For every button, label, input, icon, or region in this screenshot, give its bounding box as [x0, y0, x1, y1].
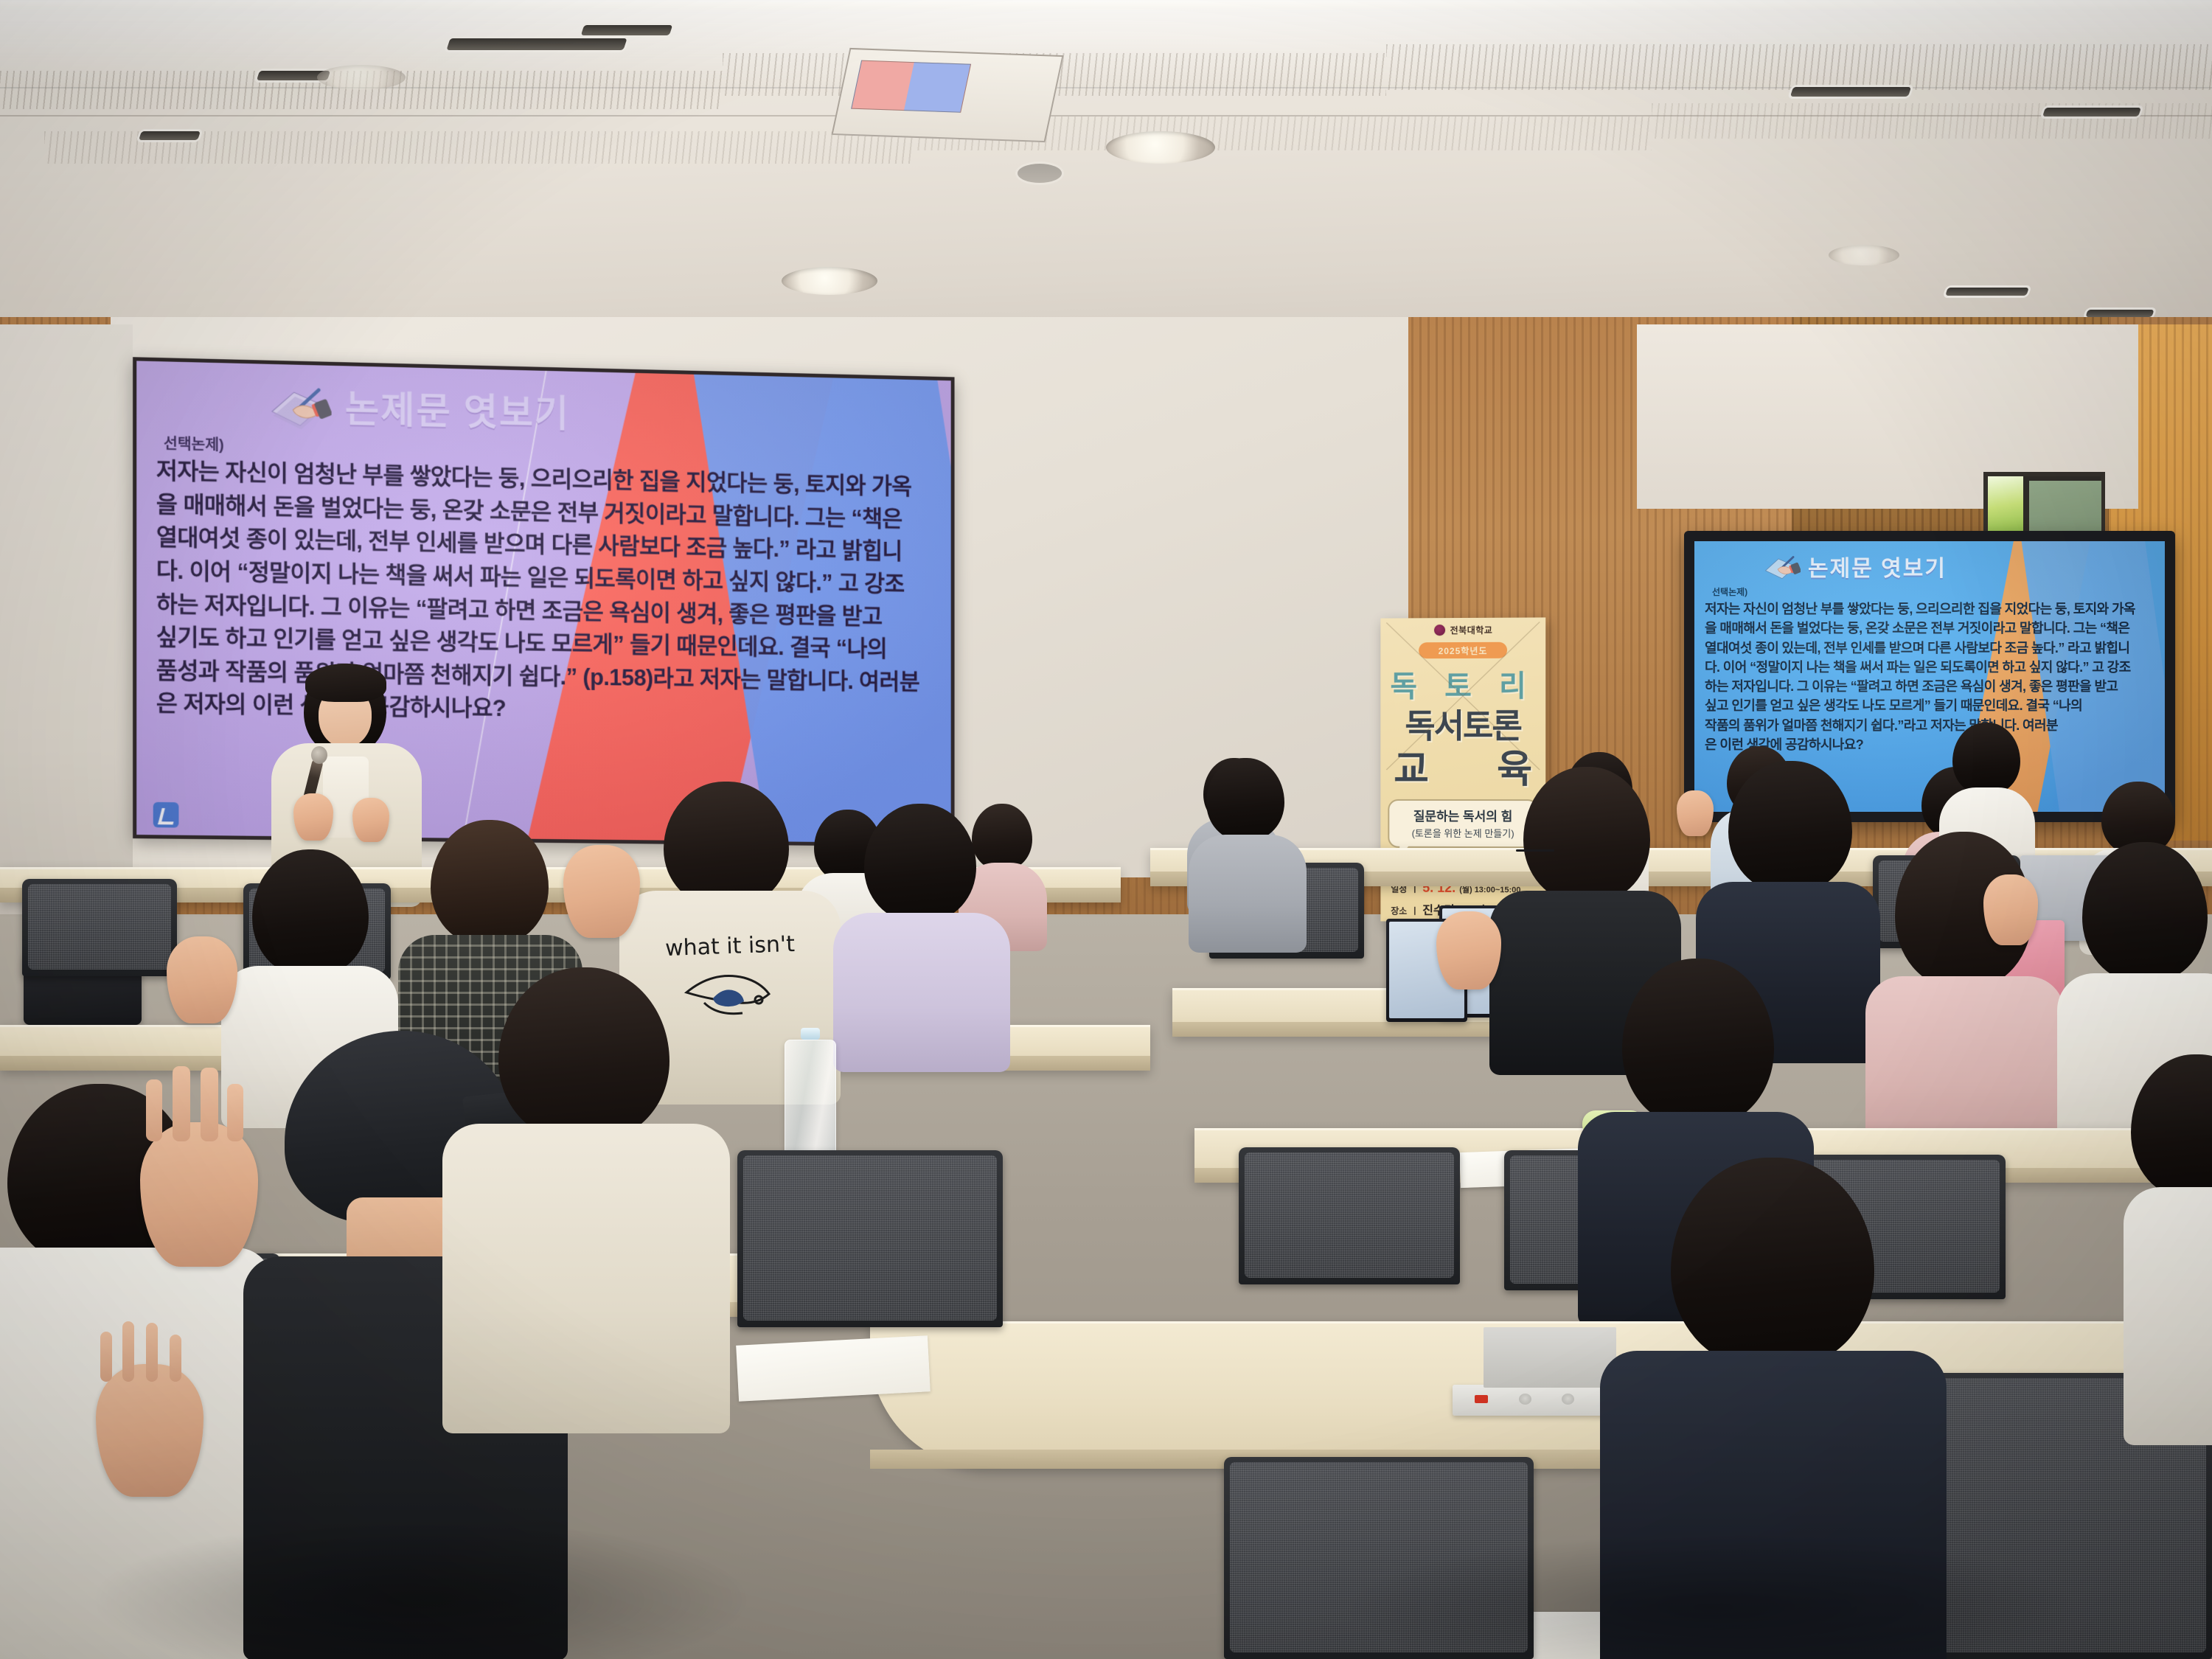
ceiling-vent	[2042, 108, 2141, 116]
chair	[1239, 1147, 1460, 1284]
monitor-slide-line: 을 매매해서 돈을 벌었다는 둥, 온갖 소문은 전부 거짓이라고 말합니다. …	[1705, 619, 2154, 638]
monitor-slide-line: 저자는 자신이 엄청난 부를 쌓았다는 둥, 으리으리한 집을 지었다는 둥, …	[1705, 599, 2154, 619]
audience-member-foreground	[442, 967, 730, 1425]
speaker-hair-front	[305, 664, 386, 702]
ceiling-downlight	[1106, 131, 1215, 164]
monitor-slide-line: 작품의 품위가 얼마쯤 천해지기 쉽다.”라고 저자는 말합니다. 여러분	[1705, 716, 2154, 735]
monitor-slide-line: 열대여섯 종이 있는데, 전부 인세를 받으며 다른 사람보다 조금 높다.” …	[1705, 639, 2154, 658]
head	[1671, 1158, 1874, 1368]
ceiling	[0, 0, 2212, 347]
audience-member-foreground	[1600, 1158, 1947, 1659]
audience-member	[1865, 832, 2065, 1141]
hand-writing-pencil-icon	[269, 380, 332, 430]
head	[252, 849, 369, 976]
head	[1728, 761, 1852, 892]
ceiling-vent	[1790, 87, 1911, 97]
water-bottle-cap[interactable]	[801, 1028, 820, 1040]
ceiling-access-panel	[831, 48, 1063, 142]
torso	[2124, 1187, 2212, 1445]
lecture-hall-photo: 논제문 엿보기 선택논제) 저자는 자신이 엄청난 부를 쌓았다는 둥, 으리으…	[0, 0, 2212, 1659]
head	[664, 782, 789, 907]
head	[1523, 767, 1650, 902]
ceiling-panel-sticker	[851, 60, 971, 112]
torso	[1189, 835, 1307, 953]
monitor-slide-line: 다. 이어 “정말이지 나는 책을 써서 파는 일은 되도록이면 하고 싶지 않…	[1705, 658, 2154, 677]
projection-screen: 논제문 엿보기 선택논제) 저자는 자신이 엄청난 부를 쌓았다는 둥, 으리으…	[133, 357, 954, 847]
raised-hand	[96, 1364, 204, 1497]
raised-hand	[1983, 874, 2038, 945]
monitor-slide-body: 저자는 자신이 엄청난 부를 쌓았다는 둥, 으리으리한 집을 지었다는 둥, …	[1705, 599, 2154, 754]
ceiling-vent	[1945, 288, 2029, 296]
ceiling-downlight	[1829, 245, 1899, 265]
microphone-head-icon	[311, 746, 327, 764]
hand-writing-pencil-icon	[1764, 552, 1801, 581]
monitor-slide-line: 싶고 인기를 얻고 싶은 생각도 나도 모르게” 들기 때문인데요. 결국 “나…	[1705, 696, 2154, 715]
audience-member	[833, 804, 1010, 1054]
ceiling-vent	[139, 131, 201, 140]
speaker-hand-right	[352, 798, 389, 842]
chair	[1224, 1457, 1534, 1659]
sweatshirt-text: what it isn't	[665, 931, 796, 961]
university-seal-icon	[1433, 624, 1446, 636]
head	[431, 820, 549, 945]
monitor-slide-subtitle: 선택논제)	[1712, 585, 2154, 598]
banner-university-row: 전북대학교	[1380, 623, 1545, 636]
torso	[833, 913, 1010, 1072]
raised-hand	[563, 845, 640, 938]
head	[1952, 723, 2020, 795]
power-outlet-flap[interactable]	[1484, 1327, 1616, 1388]
ceiling-speaker	[1018, 164, 1062, 183]
ceiling-vent	[446, 38, 627, 50]
head	[498, 967, 669, 1141]
speaker-hand-left	[293, 793, 333, 841]
banner-university-name: 전북대학교	[1450, 624, 1493, 636]
slide-footer-logo-icon	[153, 802, 179, 828]
ceiling-downlight	[782, 267, 877, 295]
raised-hand	[167, 936, 237, 1023]
head	[1622, 959, 1774, 1127]
raised-hand	[140, 1122, 258, 1267]
power-socket-icon	[1562, 1394, 1574, 1405]
power-socket-icon	[1519, 1394, 1531, 1405]
glasses-icon	[1516, 849, 1554, 852]
banner-year-pill: 2025학년도	[1419, 642, 1507, 658]
audience-member	[1189, 758, 1307, 935]
left-white-wall	[0, 324, 133, 929]
head	[2082, 842, 2208, 982]
banner-detail-sep: ㅣ	[1411, 905, 1419, 917]
chair	[22, 879, 177, 976]
head	[864, 804, 976, 922]
power-switch-indicator[interactable]	[1475, 1395, 1488, 1403]
chair	[737, 1150, 1003, 1327]
slide-surface: 논제문 엿보기 선택논제) 저자는 자신이 엄청난 부를 쌓았다는 둥, 으리으…	[136, 361, 950, 843]
monitor-slide-line: 하는 저자입니다. 그 이유는 “팔려고 하면 조금은 욕심이 생겨, 좋은 평…	[1705, 677, 2154, 696]
banner-headline-3-left: 교	[1394, 738, 1429, 793]
monitor-slide-title: 논제문 엿보기	[1808, 550, 1947, 582]
torso	[442, 1124, 730, 1433]
audience-member-edge	[2124, 1054, 2212, 1438]
ceiling-vent	[2085, 310, 2154, 317]
head	[1206, 758, 1284, 841]
ceiling-vent	[581, 25, 673, 35]
banner-detail-key: 장소	[1391, 905, 1407, 917]
handout-paper	[736, 1335, 931, 1402]
raised-hand	[1436, 911, 1501, 990]
head	[2131, 1054, 2212, 1199]
slide-title: 논제문 엿보기	[345, 379, 570, 437]
torso	[1600, 1351, 1947, 1659]
ceiling-downlight	[317, 65, 406, 90]
